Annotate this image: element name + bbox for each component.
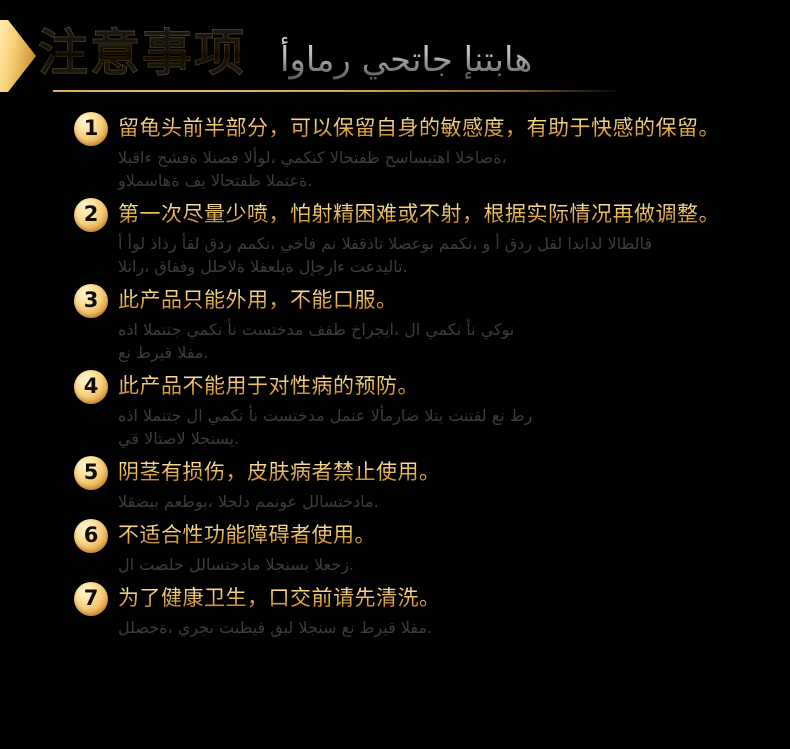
notice-number-badge: 7: [74, 582, 108, 616]
notice-text-chinese: 此产品只能外用，不能口服。: [118, 284, 776, 316]
page-header: 注意事项 هابتنإ جاتحي رماوأ: [0, 0, 790, 108]
notice-arabic-line: .مادختسالل عونمم دلجلا ،بوطعم بيضقلا: [118, 490, 698, 513]
notice-text-arabic: ،ةصاخلا اهتيساسح ظفتحالا كنكمي ،لوألا فص…: [118, 146, 698, 192]
notice-arabic-line: .يسنجلا لاصتالا قي: [118, 427, 698, 450]
page-title: 注意事项: [38, 22, 246, 84]
notice-number: 7: [74, 582, 108, 616]
notice-text-arabic: .مادختسالل عونمم دلجلا ،بوطعم بيضقلا: [118, 490, 698, 513]
notice-text-arabic: .زجعلا يسنجلا مادختسالل حلصت ال: [118, 553, 698, 576]
notice-number-badge: 2: [74, 198, 108, 232]
notice-text-arabic: رط نع لقتنت يتلا ضارمألا عنمل مدختست نأ …: [118, 404, 698, 450]
notice-item: 1留龟头前半部分，可以保留自身的敏感度，有助于快感的保留。،ةصاخلا اهت…: [0, 112, 790, 192]
notice-item: 7为了健康卫生，口交前请先清洗。.مفلا قيرط نع سنجلا لبق …: [0, 582, 790, 639]
notice-text-chinese: 阴茎有损伤，皮肤病者禁止使用。: [118, 456, 776, 488]
notice-text-chinese: 为了健康卫生，口交前请先清洗。: [118, 582, 776, 614]
notice-item: 3此产品只能外用，不能口服。نوكي نأ نكمي ال ،ايجراخ طق…: [0, 284, 790, 364]
notice-arabic-line: .زجعلا يسنجلا مادختسالل حلصت ال: [118, 553, 698, 576]
notice-arabic-line: رط نع لقتنت يتلا ضارمألا عنمل مدختست نأ …: [118, 404, 698, 427]
notice-arabic-line: نوكي نأ نكمي ال ،ايجراخ طقف مدختست نأ نك…: [118, 318, 698, 341]
notice-arabic-line: .ةعتملا ظفتحالا يف ةهاسملاو: [118, 169, 698, 192]
notice-list: 1留龟头前半部分，可以保留自身的敏感度，有助于快感的保留。،ةصاخلا اهت…: [0, 108, 790, 639]
notice-text-arabic: نوكي نأ نكمي ال ،ايجراخ طقف مدختست نأ نك…: [118, 318, 698, 364]
notice-text-arabic: .مفلا قيرط نع سنجلا لبق فيظنت ىجري ،ةحصل…: [118, 616, 698, 639]
notice-text-arabic: قالطالا لدابدا لقل ردق أ و ،نكمم بوعصلا …: [118, 232, 698, 278]
notice-arabic-line: قالطالا لدابدا لقل ردق أ و ،نكمم بوعصلا …: [118, 232, 698, 255]
notice-number: 1: [74, 112, 108, 146]
notice-text-chinese: 此产品不能用于对性病的预防。: [118, 370, 776, 402]
notice-number-badge: 3: [74, 284, 108, 318]
notice-item: 5阴茎有损伤，皮肤病者禁止使用。.مادختسالل عونمم دلجلا ،…: [0, 456, 790, 513]
notice-number: 4: [74, 370, 108, 404]
notice-text-chinese: 留龟头前半部分，可以保留自身的敏感度，有助于快感的保留。: [118, 112, 776, 144]
notice-number-badge: 4: [74, 370, 108, 404]
notice-number: 2: [74, 198, 108, 232]
notice-number-badge: 6: [74, 519, 108, 553]
notice-arabic-line: .مفلا قيرط نع: [118, 341, 698, 364]
notice-number: 3: [74, 284, 108, 318]
notice-number: 6: [74, 519, 108, 553]
right-chevron-arrow-icon: [0, 20, 36, 92]
notice-number-badge: 1: [74, 112, 108, 146]
notice-text-chinese: 不适合性功能障碍者使用。: [118, 519, 776, 551]
page-subtitle-arabic: هابتنإ جاتحي رماوأ: [280, 34, 532, 86]
notice-text-chinese: 第一次尽量少喷，怕射精困难或不射，根据实际情况再做调整。: [118, 198, 776, 230]
notice-item: 6不适合性功能障碍者使用。.زجعلا يسنجلا مادختسالل حلص…: [0, 519, 790, 576]
header-divider: [53, 90, 623, 92]
notice-number-badge: 5: [74, 456, 108, 490]
notice-arabic-line: ،ةصاخلا اهتيساسح ظفتحالا كنكمي ،لوألا فص…: [118, 146, 698, 169]
notice-number: 5: [74, 456, 108, 490]
notice-arabic-line: .مفلا قيرط نع سنجلا لبق فيظنت ىجري ،ةحصل…: [118, 616, 698, 639]
notice-item: 2第一次尽量少喷，怕射精困难或不射，根据实际情况再做调整。قالطالا لدا…: [0, 198, 790, 278]
notice-arabic-line: .تاليدعت ءارجإل ةيلعفلا ةلاحلل وففاق ،را…: [118, 255, 698, 278]
notice-item: 4此产品不能用于对性病的预防。رط نع لقتنت يتلا ضارمألا …: [0, 370, 790, 450]
